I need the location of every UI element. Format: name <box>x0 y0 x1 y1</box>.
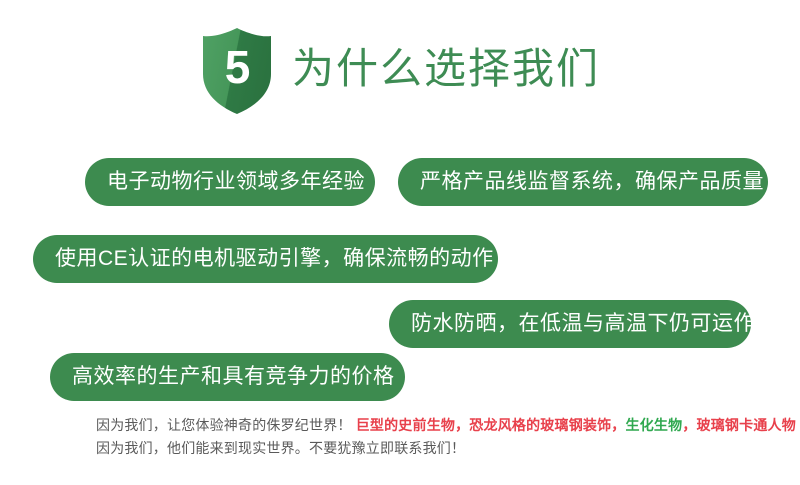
feature-pill-list: 电子动物行业领域多年经验 严格产品线监督系统，确保产品质量 使用CE认证的电机驱… <box>0 148 800 400</box>
feature-pill-2[interactable]: 严格产品线监督系统，确保产品质量 <box>398 158 768 206</box>
feature-pill-5[interactable]: 高效率的生产和具有竞争力的价格 <box>50 353 405 401</box>
shield-badge-number: 5 <box>200 27 274 115</box>
feature-pill-2-label: 严格产品线监督系统，确保产品质量 <box>420 170 764 193</box>
feature-pill-1[interactable]: 电子动物行业领域多年经验 <box>85 158 375 206</box>
page-title: 为什么选择我们 <box>292 48 600 94</box>
feature-pill-5-label: 高效率的生产和具有竞争力的价格 <box>72 365 395 388</box>
shield-badge: 5 <box>200 27 274 115</box>
footer-highlight-red-2: ，玻璃钢卡通人物 <box>682 417 796 433</box>
footer-plain-prefix: 因为我们，让您体验神奇的侏罗纪世界！ <box>96 417 356 433</box>
header-section: 5 为什么选择我们 <box>0 22 800 120</box>
footer-highlight-green: 生化生物 <box>626 417 683 433</box>
feature-pill-3[interactable]: 使用CE认证的电机驱动引擎，确保流畅的动作 <box>33 235 498 283</box>
footer-note: 因为我们，让您体验神奇的侏罗纪世界！ 巨型的史前生物，恐龙风格的玻璃钢装饰，生化… <box>96 414 796 460</box>
footer-note-line-2: 因为我们，他们能来到现实世界。不要犹豫立即联系我们！ <box>96 437 796 460</box>
feature-pill-4-label: 防水防晒，在低温与高温下仍可运作 <box>411 312 755 335</box>
feature-pill-3-label: 使用CE认证的电机驱动引擎，确保流畅的动作 <box>55 247 494 270</box>
header-inner: 5 为什么选择我们 <box>0 22 800 120</box>
feature-pill-4[interactable]: 防水防晒，在低温与高温下仍可运作 <box>389 300 751 348</box>
footer-note-line-1: 因为我们，让您体验神奇的侏罗纪世界！ 巨型的史前生物，恐龙风格的玻璃钢装饰，生化… <box>96 414 796 437</box>
footer-highlight-red-1: 巨型的史前生物，恐龙风格的玻璃钢装饰， <box>356 417 626 433</box>
feature-pill-1-label: 电子动物行业领域多年经验 <box>107 170 365 193</box>
